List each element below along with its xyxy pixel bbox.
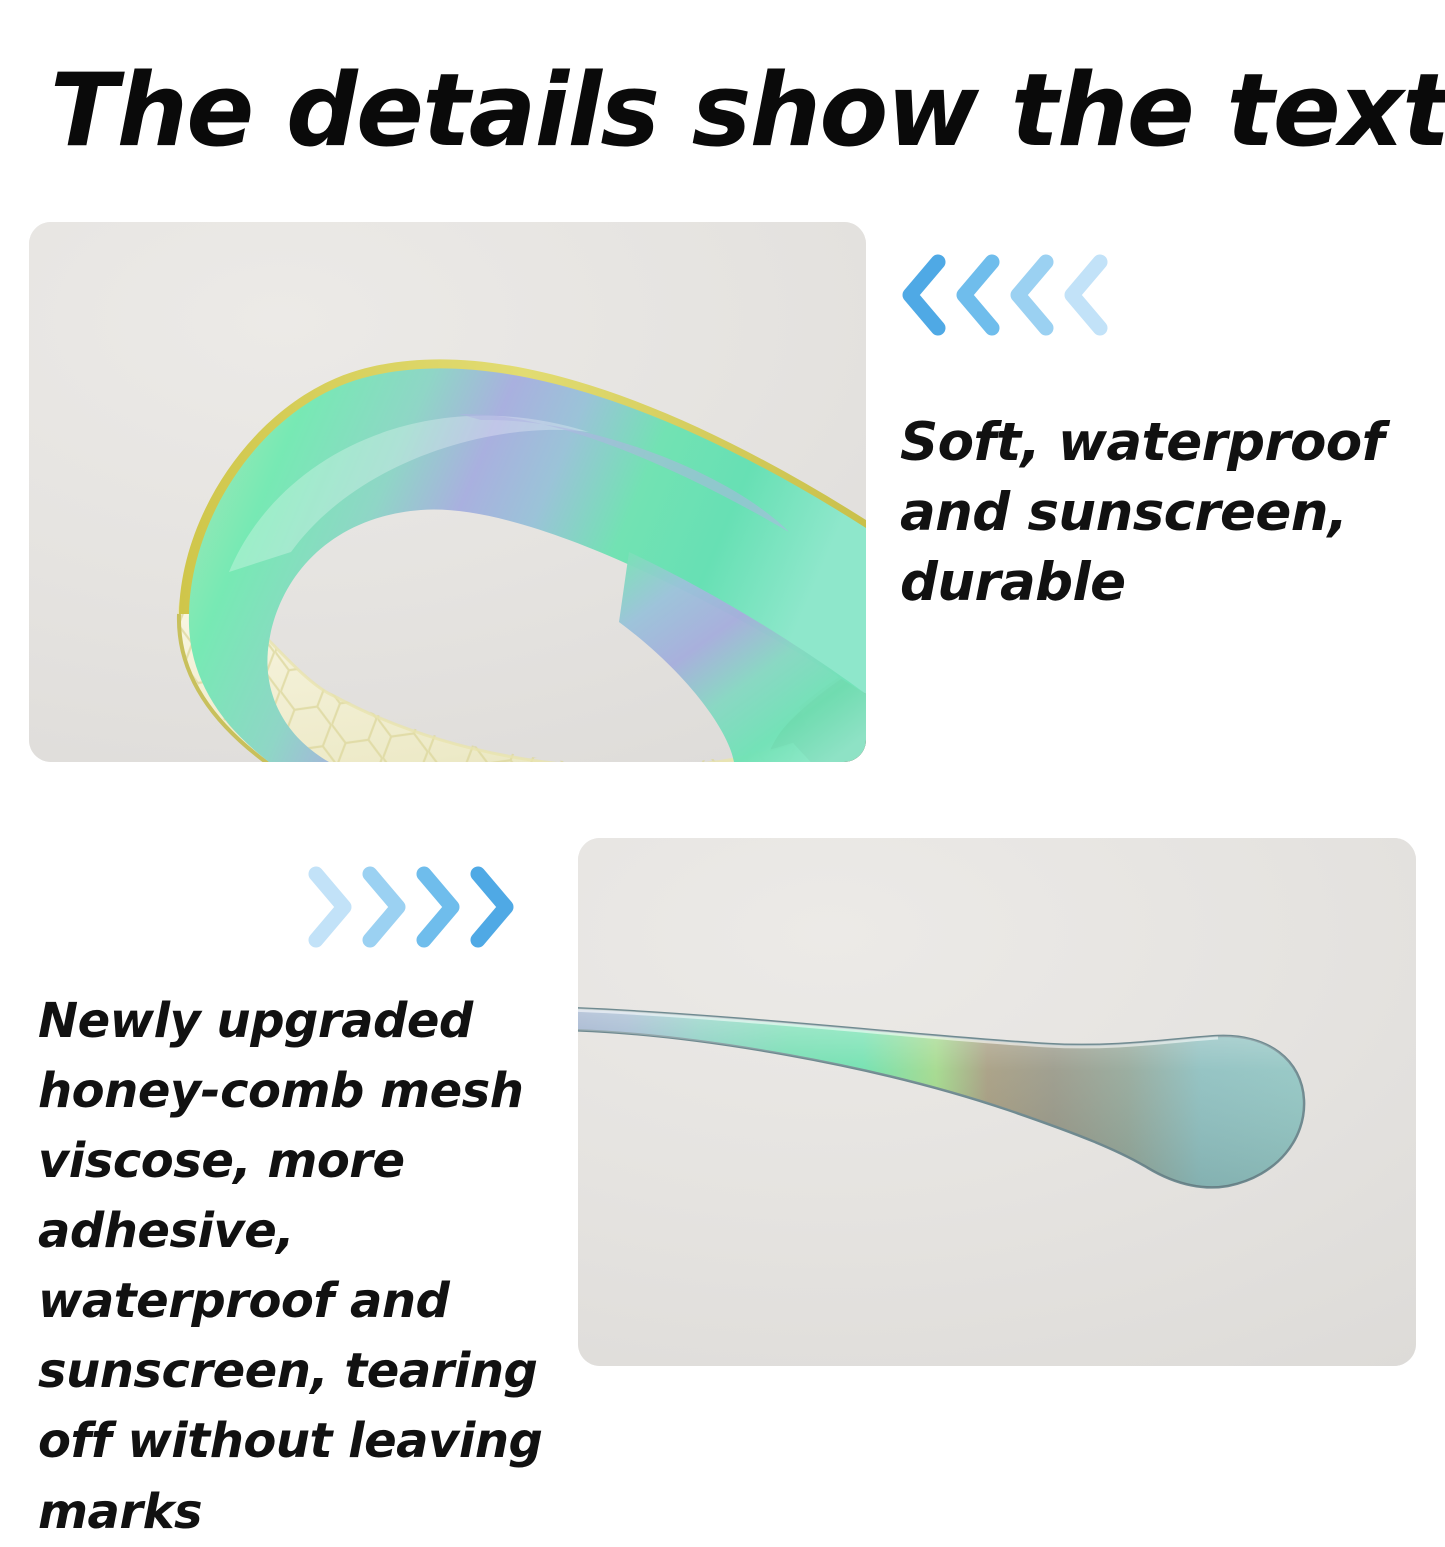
- chevron-right-group: [308, 866, 518, 948]
- chevron-left-group: [898, 254, 1108, 336]
- tape-loop-illustration: [29, 222, 866, 762]
- chevron-left-icon: [1060, 254, 1108, 336]
- tape-loop-svg: [29, 222, 866, 762]
- feature-text-soft-waterproof: Soft, waterproof and sunscreen, durable: [900, 408, 1420, 618]
- chevron-left-icon: [898, 254, 946, 336]
- chevron-right-icon: [308, 866, 356, 948]
- product-photo-loop: [29, 222, 866, 762]
- chevron-left-icon: [1006, 254, 1054, 336]
- chevron-right-icon: [470, 866, 518, 948]
- tape-strip-svg: [578, 838, 1416, 1366]
- page-title: The details show the texture: [50, 58, 1387, 163]
- feature-text-honeycomb-mesh: Newly upgraded honey-comb mesh viscose, …: [38, 986, 578, 1547]
- product-photo-strip: [578, 838, 1416, 1366]
- promo-stage: The details show the texture: [0, 0, 1445, 1445]
- tape-strip-illustration: [578, 838, 1416, 1366]
- chevron-right-icon: [416, 866, 464, 948]
- chevron-left-icon: [952, 254, 1000, 336]
- chevron-right-icon: [362, 866, 410, 948]
